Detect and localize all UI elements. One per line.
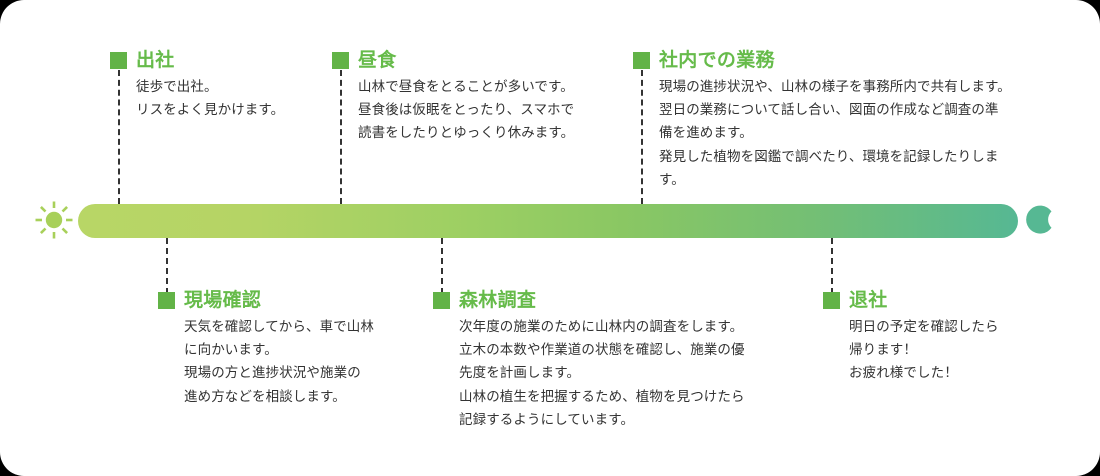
- event-chushoku: 昼食 山林で昼食をとることが多いです。 昼食後は仮眠をとったり、スマホで 読書を…: [332, 48, 627, 146]
- event-body: 次年度の施業のために山林内の調査をします。 立木の本数や作業道の状態を確認し、施…: [433, 316, 803, 432]
- event-title: 出社: [136, 51, 175, 70]
- event-taisha: 退社 明日の予定を確認したら 帰ります！ お疲れ様でした！: [823, 288, 1053, 386]
- event-title: 退社: [849, 291, 888, 310]
- event-body: 天気を確認してから、車で山林 に向かいます。 現場の方と進捗状況や施業の 進め方…: [158, 316, 408, 409]
- event-genba-kakunin: 現場確認 天気を確認してから、車で山林 に向かいます。 現場の方と進捗状況や施業…: [158, 288, 408, 409]
- event-shinrin-chosa: 森林調査 次年度の施業のために山林内の調査をします。 立木の本数や作業道の状態を…: [433, 288, 803, 432]
- event-header: 現場確認: [158, 288, 408, 312]
- timeline-card: 出社 徒歩で出社。 リスをよく見かけます。 昼食 山林で昼食をとることが多いです…: [0, 0, 1100, 476]
- bullet-square-icon: [823, 292, 840, 309]
- bullet-square-icon: [633, 52, 650, 69]
- event-header: 出社: [110, 48, 320, 72]
- sun-icon: [32, 198, 76, 242]
- connector-genba-kakunin: [166, 238, 168, 294]
- event-shanai-gyomu: 社内での業務 現場の進捗状況や、山林の様子を事務所内で共有します。 翌日の業務に…: [633, 48, 1053, 192]
- bullet-square-icon: [110, 52, 127, 69]
- timeline-axis: [78, 204, 1018, 238]
- bullet-square-icon: [158, 292, 175, 309]
- moon-icon: [1026, 202, 1058, 238]
- event-body: 徒歩で出社。 リスをよく見かけます。: [110, 76, 320, 122]
- connector-taisha: [831, 238, 833, 294]
- event-header: 森林調査: [433, 288, 803, 312]
- bullet-square-icon: [332, 52, 349, 69]
- event-title: 昼食: [358, 51, 397, 70]
- event-header: 昼食: [332, 48, 627, 72]
- event-header: 社内での業務: [633, 48, 1053, 72]
- event-body: 山林で昼食をとることが多いです。 昼食後は仮眠をとったり、スマホで 読書をしたり…: [332, 76, 627, 146]
- event-body: 現場の進捗状況や、山林の様子を事務所内で共有します。 翌日の業務について話し合い…: [633, 76, 1053, 192]
- event-title: 森林調査: [459, 291, 536, 310]
- event-shussha: 出社 徒歩で出社。 リスをよく見かけます。: [110, 48, 320, 122]
- event-header: 退社: [823, 288, 1053, 312]
- connector-shinrin-chosa: [441, 238, 443, 294]
- event-title: 現場確認: [184, 291, 261, 310]
- bullet-square-icon: [433, 292, 450, 309]
- event-title: 社内での業務: [659, 51, 775, 70]
- event-body: 明日の予定を確認したら 帰ります！ お疲れ様でした！: [823, 316, 1053, 386]
